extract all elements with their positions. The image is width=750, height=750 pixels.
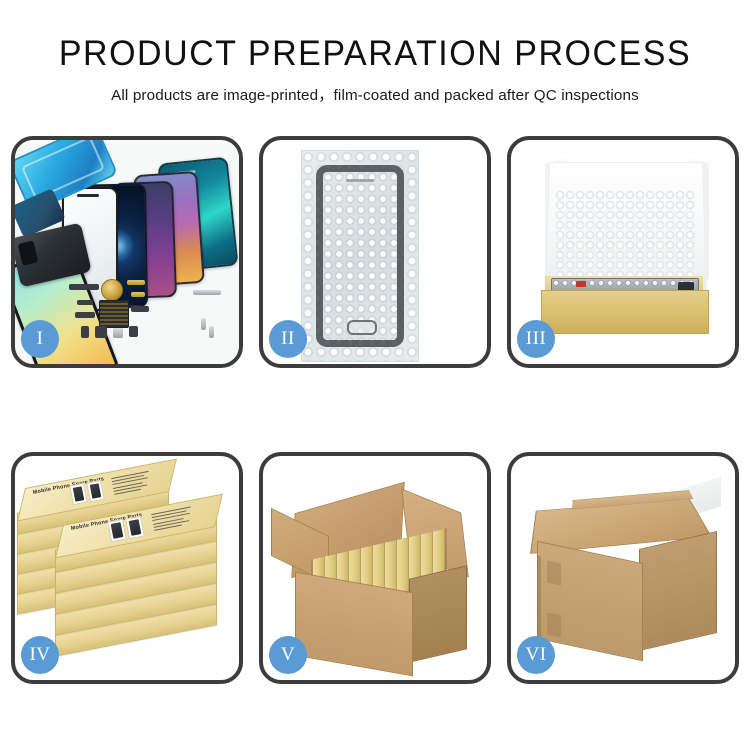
step-badge-6: VI <box>517 636 555 674</box>
gold-bracket-part <box>131 292 145 297</box>
step-badge-2: II <box>269 320 307 358</box>
carton-front-face <box>537 541 643 662</box>
step-badge-4: IV <box>21 636 59 674</box>
carton-flap-tab-lower <box>547 613 561 638</box>
page-header: PRODUCT PREPARATION PROCESS All products… <box>0 0 750 105</box>
page-subtitle: All products are image-printed，film-coat… <box>0 74 750 105</box>
red-label-mark <box>576 281 586 287</box>
process-step-panel-4[interactable]: Mobile Phone Spare Parts Mobile Phone Sp… <box>11 452 243 684</box>
process-step-panel-5[interactable]: V <box>259 452 491 684</box>
screw-part <box>209 326 214 338</box>
ribbon-part <box>75 312 95 318</box>
carton-corner-seam <box>537 556 541 649</box>
process-panel-grid: I II III <box>11 136 739 684</box>
bubble-wrap-sheet <box>301 150 419 362</box>
process-step-panel-3[interactable]: III <box>507 136 739 368</box>
speaker-part <box>113 328 123 338</box>
process-step-panel-6[interactable]: VI <box>507 452 739 684</box>
process-step-panel-2[interactable]: II <box>259 136 491 368</box>
tool-part <box>193 290 221 295</box>
page-title: PRODUCT PREPARATION PROCESS <box>11 0 739 74</box>
gold-connector-part <box>127 280 145 285</box>
chip-part-icon <box>99 300 129 328</box>
kraft-box-front <box>541 290 709 334</box>
camera-module-part <box>131 306 149 312</box>
step-badge-5: V <box>269 636 307 674</box>
process-step-panel-1[interactable]: I <box>11 136 243 368</box>
phone-screen-under-wrap <box>316 165 404 347</box>
carton-side-face <box>409 565 467 662</box>
carton-side-face <box>639 531 717 651</box>
button-part <box>95 326 107 338</box>
sim-tray-part <box>81 326 89 338</box>
coil-part-icon <box>101 279 123 301</box>
carton-flap-tab-upper <box>547 561 561 586</box>
step-badge-1: I <box>21 320 59 358</box>
step-badge-3: III <box>517 320 555 358</box>
small-cable-part <box>77 300 93 305</box>
vibrator-part <box>129 326 138 337</box>
foam-padding <box>555 190 695 282</box>
home-button-outline <box>347 320 377 335</box>
flex-cable-part <box>69 284 99 290</box>
earpiece-slot <box>346 179 374 182</box>
screw-part <box>201 318 206 330</box>
